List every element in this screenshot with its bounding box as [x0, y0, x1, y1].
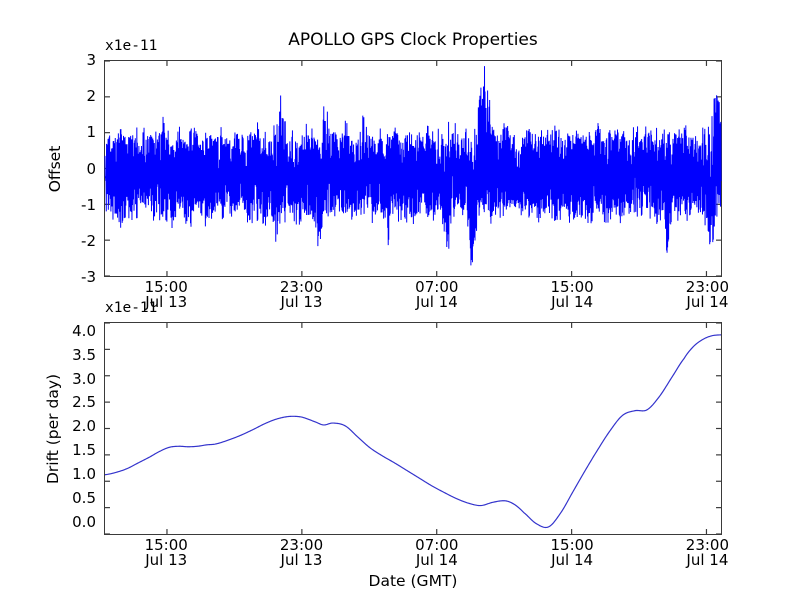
- drift-axis-exponent-label: x1e-11: [105, 300, 157, 316]
- drift-line-chart: [105, 323, 721, 534]
- drift-tick-marks: [105, 323, 721, 534]
- drift-ytick-label: 3.0: [44, 370, 96, 388]
- drift-xtick-label: 23:00 Jul 14: [686, 538, 729, 569]
- drift-ytick-label: 0.0: [44, 513, 96, 531]
- drift-xtick-date: Jul 14: [550, 553, 593, 568]
- offset-ytick-label: -1: [64, 196, 96, 214]
- offset-ytick-label: -3: [64, 268, 96, 286]
- offset-axis-ylabel: Offset: [46, 109, 64, 229]
- drift-ytick-label: 0.5: [44, 489, 96, 507]
- offset-xtick-label: 07:00 Jul 14: [415, 280, 458, 311]
- drift-ytick-label: 2.5: [44, 393, 96, 411]
- drift-xtick-label: 23:00 Jul 13: [280, 538, 323, 569]
- drift-xtick-label: 15:00 Jul 13: [145, 538, 188, 569]
- offset-ytick-label: 1: [64, 123, 96, 141]
- drift-plot-area: [104, 322, 722, 535]
- offset-plot-area: [104, 60, 722, 277]
- drift-ytick-label: 3.5: [44, 346, 96, 364]
- offset-xtick-date: Jul 14: [686, 295, 729, 310]
- drift-xtick-date: Jul 14: [686, 553, 729, 568]
- drift-axis-xlabel: Date (GMT): [104, 572, 722, 590]
- drift-ytick-label: 1.5: [44, 441, 96, 459]
- offset-ytick-label: 3: [64, 51, 96, 69]
- offset-xtick-date: Jul 13: [280, 295, 323, 310]
- drift-ytick-label: 2.0: [44, 417, 96, 435]
- drift-xtick-date: Jul 13: [145, 553, 188, 568]
- drift-data-line: [105, 335, 721, 528]
- drift-ytick-label: 1.0: [44, 465, 96, 483]
- matplotlib-figure: APOLLO GPS Clock Properties x1e-11 Offse…: [0, 0, 800, 600]
- offset-line-chart: [105, 61, 721, 276]
- offset-ytick-label: 0: [64, 160, 96, 178]
- page-title: APOLLO GPS Clock Properties: [104, 30, 722, 50]
- drift-xtick-date: Jul 13: [280, 553, 323, 568]
- offset-axis-exponent-label: x1e-11: [105, 38, 157, 54]
- offset-ytick-label: 2: [64, 87, 96, 105]
- offset-ytick-label: -2: [64, 232, 96, 250]
- drift-xtick-date: Jul 14: [415, 553, 458, 568]
- drift-xtick-label: 15:00 Jul 14: [550, 538, 593, 569]
- offset-xtick-label: 23:00 Jul 14: [686, 280, 729, 311]
- drift-ytick-label: 4.0: [44, 322, 96, 340]
- drift-xtick-label: 07:00 Jul 14: [415, 538, 458, 569]
- offset-xtick-date: Jul 14: [550, 295, 593, 310]
- offset-xtick-date: Jul 14: [415, 295, 458, 310]
- offset-xtick-label: 23:00 Jul 13: [280, 280, 323, 311]
- offset-data-line: [105, 66, 721, 265]
- offset-xtick-label: 15:00 Jul 14: [550, 280, 593, 311]
